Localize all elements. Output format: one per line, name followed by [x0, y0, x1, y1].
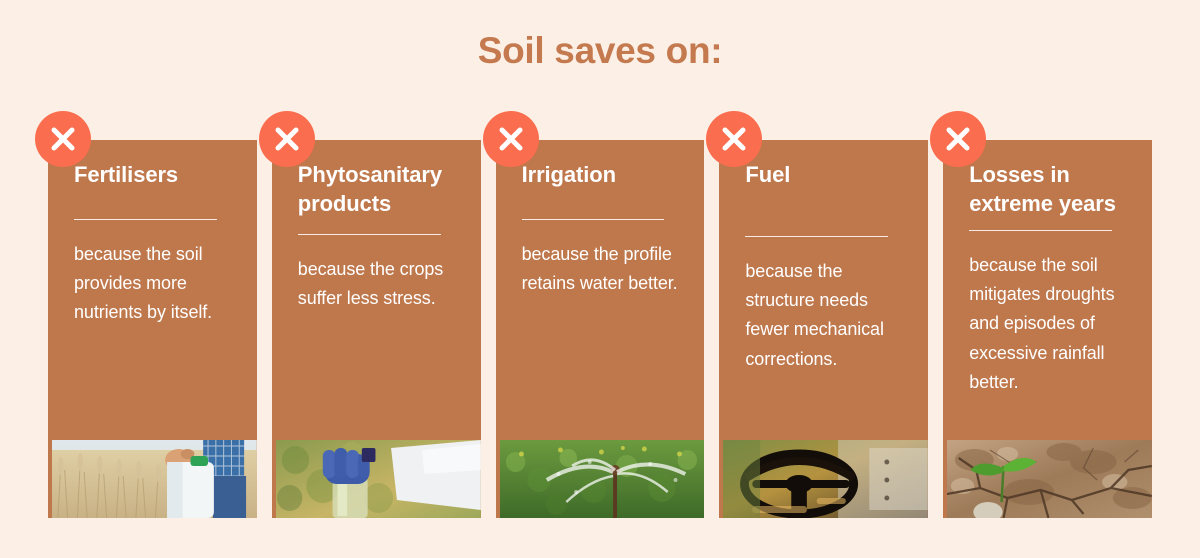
card-divider [969, 230, 1112, 231]
card-divider [298, 234, 441, 235]
card-body: Fertilisers because the soil provides mo… [48, 140, 257, 440]
photo-gloved-hand-spray-bottle [276, 440, 481, 518]
card-divider [74, 219, 217, 220]
card-title: Fuel [745, 160, 906, 189]
card-fertilisers: Fertilisers because the soil provides mo… [48, 140, 257, 518]
card-title: Phytosanitary products [298, 160, 459, 218]
card-row: Fertilisers because the soil provides mo… [48, 140, 1152, 518]
cross-x-icon [706, 111, 762, 167]
card-body: Phytosanitary products because the crops… [272, 140, 481, 440]
cross-x-icon [483, 111, 539, 167]
photo-wheat-field-fertiliser-jug [52, 440, 257, 518]
cross-x-icon [259, 111, 315, 167]
cross-x-icon [35, 111, 91, 167]
card-text: because the soil mitigates droughts and … [969, 251, 1130, 397]
card-text: because the profile retains water better… [522, 240, 683, 298]
card-irrigation: Irrigation because the profile retains w… [496, 140, 705, 518]
page-title: Soil saves on: [0, 30, 1200, 72]
card-divider [522, 219, 665, 220]
card-text: because the soil provides more nutrients… [74, 240, 235, 327]
card-title: Fertilisers [74, 160, 235, 189]
card-phytosanitary-products: Phytosanitary products because the crops… [272, 140, 481, 518]
cross-x-icon [930, 111, 986, 167]
photo-tractor-steering-wheel [723, 440, 928, 518]
card-body: Irrigation because the profile retains w… [496, 140, 705, 440]
card-title: Irrigation [522, 160, 683, 189]
infographic-root: Soil saves on: Fertilisers because the s… [0, 0, 1200, 558]
card-losses-in-extreme-years: Losses in extreme years because the soil… [943, 140, 1152, 518]
card-body: Losses in extreme years because the soil… [943, 140, 1152, 440]
card-body: Fuel because the structure needs fewer m… [719, 140, 928, 440]
photo-sprinkler-watering-crops [500, 440, 705, 518]
card-title: Losses in extreme years [969, 160, 1130, 218]
card-text: because the structure needs fewer mechan… [745, 257, 906, 374]
photo-seedling-cracked-soil [947, 440, 1152, 518]
card-fuel: Fuel because the structure needs fewer m… [719, 140, 928, 518]
card-divider [745, 236, 888, 237]
card-text: because the crops suffer less stress. [298, 255, 459, 313]
